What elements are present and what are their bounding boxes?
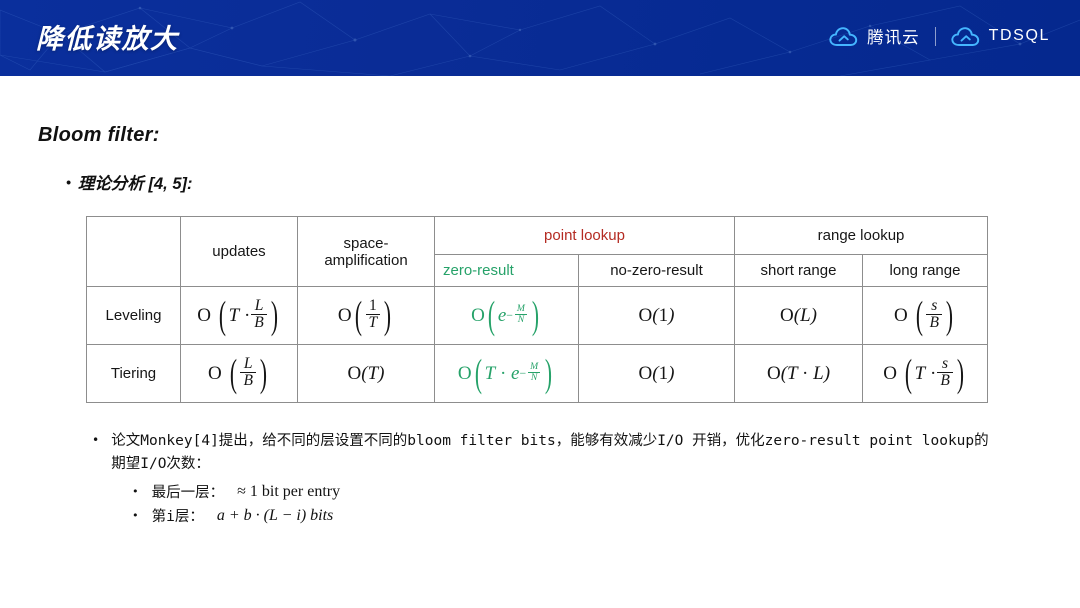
sub-bullet-label: 第i层： xyxy=(152,505,204,526)
cell-tiering-no-zero-result: O(1) xyxy=(579,345,735,403)
bullet-marker: • xyxy=(132,509,139,522)
section-title: Bloom filter: xyxy=(38,124,160,147)
cell-tiering-short-range: O(T · L) xyxy=(735,345,863,403)
tdsql-label: TDSQL xyxy=(989,27,1050,45)
col-header-updates: updates xyxy=(181,217,298,287)
cell-tiering-zero-result: O(T · e−MN) xyxy=(435,345,579,403)
tencent-cloud-label: 腾讯云 xyxy=(867,24,920,48)
logo-divider xyxy=(935,27,936,46)
bullet-marker: • xyxy=(92,430,99,450)
cloud-icon xyxy=(829,26,859,47)
bullet-marker: • xyxy=(66,175,71,189)
cell-leveling-space-amplification: O( 1T) xyxy=(298,287,435,345)
table-header-row-top: updates space-amplification point lookup… xyxy=(87,217,988,255)
cell-leveling-short-range: O(L) xyxy=(735,287,863,345)
col-header-range-lookup: range lookup xyxy=(735,217,988,255)
sub-bullet-label: 最后一层： xyxy=(152,481,225,502)
brand-logos: 腾讯云 TDSQL xyxy=(829,24,1050,48)
cell-tiering-updates: O ( LB) xyxy=(181,345,298,403)
col-header-no-zero-result: no-zero-result xyxy=(579,255,735,287)
cell-tiering-long-range: O (T · sB) xyxy=(863,345,988,403)
col-header-short-range: short range xyxy=(735,255,863,287)
table-row: Tiering O ( LB) O(T) O(T · e−MN) O(1) O(… xyxy=(87,345,988,403)
col-header-space-amplification: space-amplification xyxy=(298,217,435,287)
bullet-marker: • xyxy=(132,485,139,498)
complexity-table-wrap: updates space-amplification point lookup… xyxy=(86,216,987,403)
tencent-cloud-logo: 腾讯云 xyxy=(829,24,920,48)
col-header-long-range: long range xyxy=(863,255,988,287)
sub-bullet-value: ≈ 1 bit per entry xyxy=(237,483,340,501)
tdsql-logo: TDSQL xyxy=(951,26,1050,47)
table-row: Leveling O (T · LB) O( 1T) O(e−MN) O(1) … xyxy=(87,287,988,345)
cell-leveling-long-range: O ( sB) xyxy=(863,287,988,345)
sub-bullet-last-level: • 最后一层： ≈ 1 bit per entry xyxy=(132,481,340,502)
theory-label: 理论分析 [4, 5]: xyxy=(78,170,193,194)
sub-bullet-level-i: • 第i层： a + b · (L − i) bits xyxy=(132,505,333,526)
notes-paragraph: • 论文Monkey[4]提出，给不同的层设置不同的bloom filter b… xyxy=(92,430,992,476)
sub-bullet-value: a + b · (L − i) bits xyxy=(217,507,333,525)
row-label-tiering: Tiering xyxy=(87,345,181,403)
row-label-leveling: Leveling xyxy=(87,287,181,345)
cell-leveling-no-zero-result: O(1) xyxy=(579,287,735,345)
theory-bullet: • 理论分析 [4, 5]: xyxy=(66,170,193,194)
cell-tiering-space-amplification: O(T) xyxy=(298,345,435,403)
page-title: 降低读放大 xyxy=(36,17,179,56)
col-header-zero-result: zero-result xyxy=(435,255,579,287)
col-header-point-lookup: point lookup xyxy=(435,217,735,255)
notes-paragraph-text: 论文Monkey[4]提出，给不同的层设置不同的bloom filter bit… xyxy=(111,430,992,476)
cell-leveling-zero-result: O(e−MN) xyxy=(435,287,579,345)
table-corner-cell xyxy=(87,217,181,287)
cloud-icon xyxy=(951,26,981,47)
complexity-table: updates space-amplification point lookup… xyxy=(86,216,988,403)
slide-header: 降低读放大 腾讯云 TDSQL xyxy=(0,0,1080,76)
cell-leveling-updates: O (T · LB) xyxy=(181,287,298,345)
